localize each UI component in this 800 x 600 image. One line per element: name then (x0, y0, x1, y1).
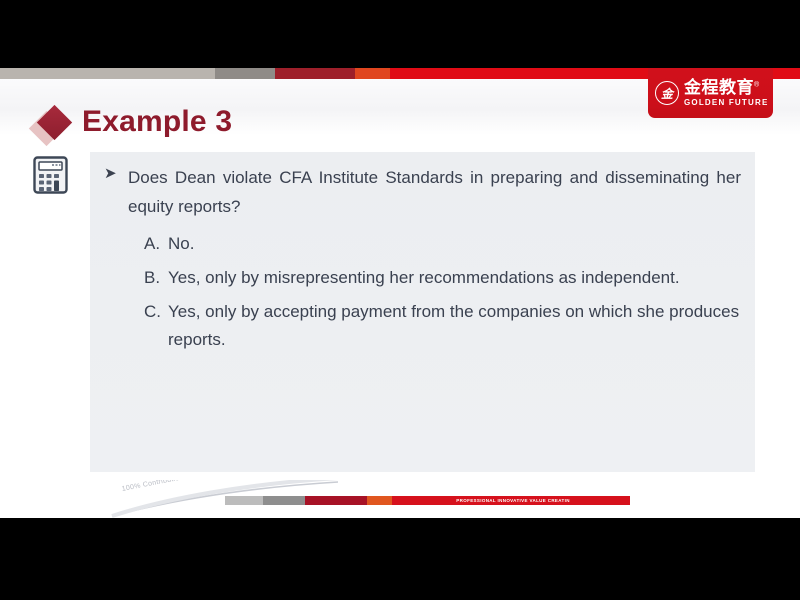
ribbon-segment-2 (275, 68, 355, 79)
question-text: Does Dean violate CFA Institute Standard… (128, 164, 741, 222)
footer-segment-0 (225, 496, 263, 505)
page-title: Example 3 (82, 105, 232, 139)
diamond-bullet-icon (33, 107, 77, 147)
option-text-c: Yes, only by accepting payment from the … (168, 298, 741, 356)
presentation-slide: Example 3 金 金程教育® GOLDEN FUTURE (0, 68, 800, 518)
brand-name-cn-text: 金程教育 (684, 78, 754, 97)
footer-color-bar: PROFESSIONAL INNOVATIVE VALUE CREATING (225, 496, 630, 505)
footer-segment-3 (367, 496, 392, 505)
brand-name-en: GOLDEN FUTURE (684, 99, 769, 107)
footer-segment-4 (392, 496, 460, 505)
options-list: A. No. B. Yes, only by misrepresenting h… (104, 230, 741, 356)
brand-logo: 金 金程教育® GOLDEN FUTURE (648, 68, 773, 118)
option-label-c: C. (144, 298, 168, 327)
registered-trademark-icon: ® (754, 81, 760, 88)
question-panel: ➤ Does Dean violate CFA Institute Standa… (90, 152, 755, 472)
ribbon-segment-1 (215, 68, 275, 79)
list-item[interactable]: C. Yes, only by accepting payment from t… (144, 298, 741, 356)
option-text-a: No. (168, 230, 741, 259)
arrow-bullet-icon: ➤ (104, 164, 128, 181)
footer-tagline: PROFESSIONAL INNOVATIVE VALUE CREATING (460, 496, 570, 505)
option-label-b: B. (144, 264, 168, 293)
list-item[interactable]: A. No. (144, 230, 741, 259)
list-item[interactable]: B. Yes, only by misrepresenting her reco… (144, 264, 741, 293)
question-row: ➤ Does Dean violate CFA Institute Standa… (104, 164, 741, 222)
footer-segment-5: PROFESSIONAL INNOVATIVE VALUE CREATING (460, 496, 570, 505)
footer-segment-1 (263, 496, 305, 505)
option-label-a: A. (144, 230, 168, 259)
brand-seal-icon: 金 (655, 81, 679, 105)
option-text-b: Yes, only by misrepresenting her recomme… (168, 264, 741, 293)
ribbon-segment-3 (355, 68, 390, 79)
footer-segment-6 (570, 496, 630, 505)
footer-segment-2 (305, 496, 367, 505)
video-viewport: Example 3 金 金程教育® GOLDEN FUTURE (0, 0, 800, 600)
brand-name-cn: 金程教育® (684, 79, 769, 96)
ribbon-segment-0 (0, 68, 215, 79)
calculator-icon (33, 156, 68, 194)
